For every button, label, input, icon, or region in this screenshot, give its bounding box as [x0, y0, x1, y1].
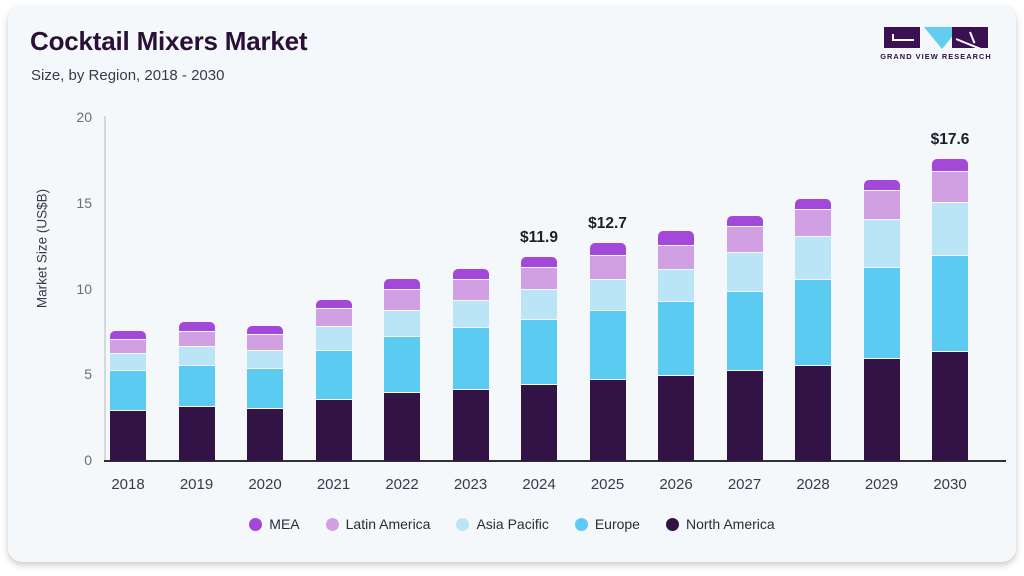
bar-segment-latin-america[interactable] [110, 339, 146, 354]
legend-item[interactable]: Europe [575, 516, 640, 532]
bar-segment-europe[interactable] [864, 267, 900, 359]
x-axis-tick-label: 2023 [454, 476, 487, 493]
bar-segment-north-america[interactable] [932, 351, 968, 461]
bar-stack[interactable] [658, 118, 694, 461]
bar-segment-north-america[interactable] [590, 379, 626, 461]
x-axis-tick-label: 2022 [385, 476, 418, 493]
x-axis-tick-label: 2030 [933, 476, 966, 493]
bar-stack[interactable] [110, 118, 146, 461]
bar-segment-mea[interactable] [521, 257, 557, 268]
bar-stack[interactable] [179, 118, 215, 461]
bar-segment-mea[interactable] [453, 269, 489, 280]
legend-color-swatch-icon [249, 518, 262, 531]
chart-plot-area: Market Size (US$B) 051015202018201920202… [8, 6, 1016, 562]
bar-stack[interactable] [864, 118, 900, 461]
bar-stack[interactable] [521, 118, 557, 461]
bar-stack[interactable] [932, 118, 968, 461]
bar-segment-north-america[interactable] [795, 365, 831, 461]
bar-value-label: $17.6 [931, 131, 970, 149]
y-axis-tick-label: 10 [48, 281, 92, 297]
x-axis-tick-label: 2027 [728, 476, 761, 493]
legend-item-label: Asia Pacific [476, 516, 548, 532]
bar-segment-europe[interactable] [590, 310, 626, 380]
bar-segment-europe[interactable] [795, 279, 831, 366]
bar-segment-north-america[interactable] [110, 410, 146, 461]
chart-card: Cocktail Mixers Market Size, by Region, … [8, 6, 1016, 562]
x-axis-tick-label: 2024 [522, 476, 555, 493]
bar-segment-asia-pacific[interactable] [110, 353, 146, 371]
y-axis-tick-label: 20 [48, 109, 92, 125]
bar-segment-latin-america[interactable] [864, 190, 900, 220]
y-axis-tick-label: 15 [48, 195, 92, 211]
bar-segment-latin-america[interactable] [727, 226, 763, 253]
bar-segment-asia-pacific[interactable] [932, 202, 968, 256]
bar-stack[interactable] [384, 118, 420, 461]
bar-segment-north-america[interactable] [521, 384, 557, 461]
x-axis-tick-label: 2019 [180, 476, 213, 493]
bar-segment-asia-pacific[interactable] [795, 236, 831, 280]
legend-item[interactable]: Latin America [326, 516, 431, 532]
y-axis-tick-label: 5 [48, 366, 92, 382]
bar-segment-asia-pacific[interactable] [864, 219, 900, 268]
y-axis-tick-label: 0 [48, 452, 92, 468]
bar-segment-latin-america[interactable] [590, 255, 626, 280]
legend-item[interactable]: Asia Pacific [456, 516, 548, 532]
legend-item-label: Latin America [346, 516, 431, 532]
bar-segment-latin-america[interactable] [795, 209, 831, 237]
bar-segment-north-america[interactable] [316, 399, 352, 461]
bar-segment-latin-america[interactable] [658, 245, 694, 270]
legend-color-swatch-icon [326, 518, 339, 531]
bar-segment-asia-pacific[interactable] [521, 290, 557, 320]
legend-item-label: Europe [595, 516, 640, 532]
bar-value-label: $11.9 [520, 229, 558, 247]
bar-value-label: $12.7 [588, 215, 627, 233]
bar-segment-asia-pacific[interactable] [453, 300, 489, 328]
bar-segment-europe[interactable] [179, 365, 215, 407]
bar-segment-latin-america[interactable] [384, 290, 420, 312]
legend-item[interactable]: North America [666, 516, 775, 532]
bar-stack[interactable] [453, 118, 489, 461]
x-axis-tick-label: 2020 [248, 476, 281, 493]
x-axis-tick-label: 2028 [796, 476, 829, 493]
bar-segment-latin-america[interactable] [453, 279, 489, 301]
bar-stack[interactable] [795, 118, 831, 461]
bar-segment-europe[interactable] [110, 370, 146, 410]
bar-segment-latin-america[interactable] [247, 334, 283, 350]
bar-segment-north-america[interactable] [384, 392, 420, 461]
bar-segment-north-america[interactable] [727, 370, 763, 461]
bar-stack[interactable] [316, 118, 352, 461]
bar-segment-north-america[interactable] [453, 389, 489, 461]
bar-segment-mea[interactable] [384, 279, 420, 290]
y-axis-line [104, 116, 106, 461]
bar-segment-mea[interactable] [795, 199, 831, 210]
bar-segment-europe[interactable] [932, 255, 968, 352]
bar-segment-mea[interactable] [179, 322, 215, 332]
x-axis-tick-label: 2025 [591, 476, 624, 493]
x-axis-tick-label: 2029 [865, 476, 898, 493]
bar-segment-north-america[interactable] [247, 408, 283, 461]
bar-segment-mea[interactable] [316, 300, 352, 310]
legend-color-swatch-icon [575, 518, 588, 531]
bar-segment-mea[interactable] [110, 331, 146, 341]
bar-segment-europe[interactable] [384, 336, 420, 394]
bar-segment-north-america[interactable] [179, 406, 215, 461]
bar-segment-europe[interactable] [521, 319, 557, 385]
bar-segment-latin-america[interactable] [932, 171, 968, 203]
bar-segment-asia-pacific[interactable] [316, 326, 352, 351]
bar-segment-latin-america[interactable] [521, 267, 557, 290]
bar-segment-asia-pacific[interactable] [658, 269, 694, 303]
bar-segment-asia-pacific[interactable] [179, 346, 215, 366]
bar-segment-north-america[interactable] [658, 375, 694, 461]
bar-segment-mea[interactable] [864, 180, 900, 191]
chart-screenshot: Cocktail Mixers Market Size, by Region, … [0, 0, 1024, 576]
bar-segment-latin-america[interactable] [179, 331, 215, 347]
bar-segment-asia-pacific[interactable] [590, 279, 626, 311]
x-axis-tick-label: 2018 [111, 476, 144, 493]
bar-segment-asia-pacific[interactable] [727, 252, 763, 292]
bar-stack[interactable] [247, 118, 283, 461]
bar-segment-europe[interactable] [658, 302, 694, 377]
chart-legend: MEALatin AmericaAsia PacificEuropeNorth … [8, 516, 1016, 532]
bar-segment-mea[interactable] [247, 326, 283, 336]
bar-segment-europe[interactable] [247, 368, 283, 408]
bar-segment-europe[interactable] [453, 327, 489, 390]
bar-segment-europe[interactable] [316, 350, 352, 401]
bar-segment-latin-america[interactable] [316, 308, 352, 326]
y-axis-title: Market Size (US$B) [35, 139, 50, 359]
bar-segment-europe[interactable] [727, 291, 763, 371]
x-axis-tick-label: 2021 [317, 476, 350, 493]
legend-item[interactable]: MEA [249, 516, 299, 532]
bar-segment-mea[interactable] [727, 216, 763, 227]
legend-color-swatch-icon [456, 518, 469, 531]
x-axis-tick-label: 2026 [659, 476, 692, 493]
bar-segment-north-america[interactable] [864, 358, 900, 461]
legend-color-swatch-icon [666, 518, 679, 531]
legend-item-label: MEA [269, 516, 299, 532]
bar-segment-mea[interactable] [590, 243, 626, 256]
bar-stack[interactable] [590, 118, 626, 461]
bar-segment-asia-pacific[interactable] [384, 310, 420, 337]
bar-segment-asia-pacific[interactable] [247, 350, 283, 370]
bar-segment-mea[interactable] [932, 159, 968, 172]
legend-item-label: North America [686, 516, 775, 532]
bar-stack[interactable] [727, 118, 763, 461]
bar-segment-mea[interactable] [658, 231, 694, 246]
